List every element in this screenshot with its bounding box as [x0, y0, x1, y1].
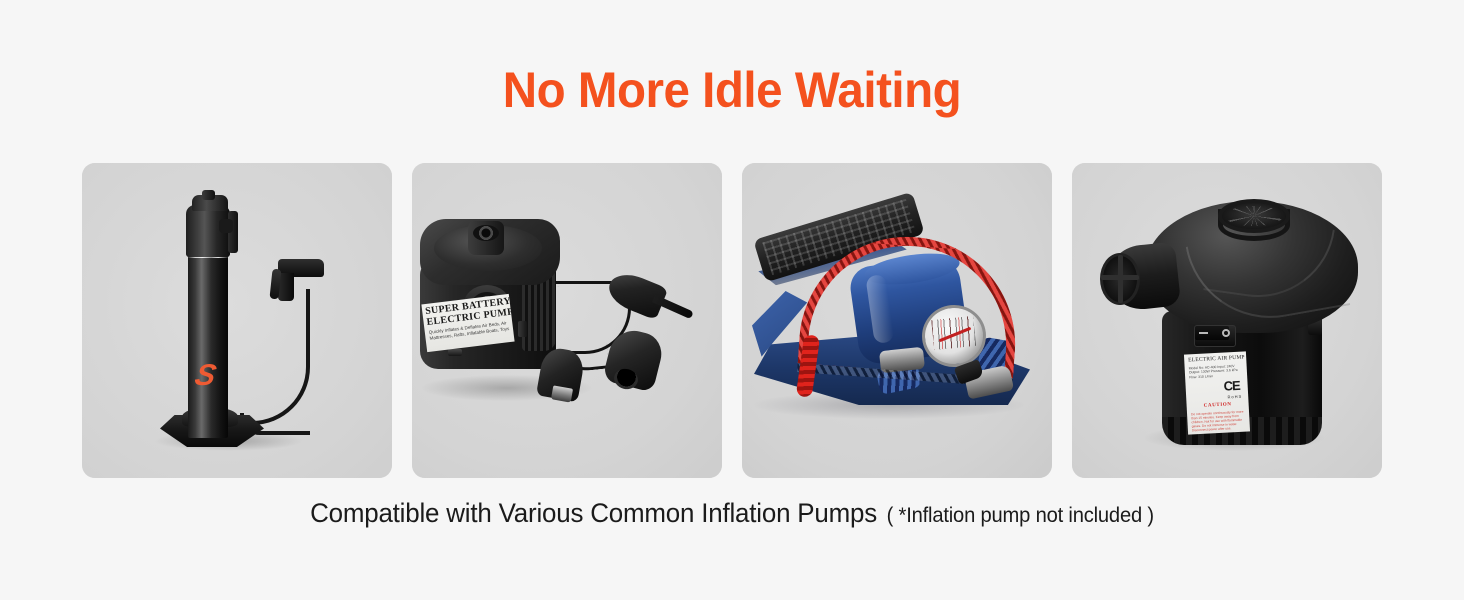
- gallery-caption: Compatible with Various Common Inflation…: [29, 496, 1434, 533]
- battery-latch[interactable]: [448, 349, 462, 356]
- product-gallery: S SUPER BATTERY ELECTRIC: [82, 163, 1382, 478]
- label-title: ELECTRIC AIR PUMP: [1188, 355, 1245, 364]
- intake-grill: [1218, 199, 1290, 233]
- page-title: No More Idle Waiting: [37, 60, 1428, 120]
- product-label: ELECTRIC AIR PUMP Model No: AC-400 Input…: [1184, 351, 1250, 434]
- product-panel-electric-air-pump[interactable]: ELECTRIC AIR PUMP Model No: AC-400 Input…: [1072, 163, 1382, 478]
- caption-main: Compatible with Various Common Inflation…: [310, 498, 877, 528]
- battery-electric-pump-image: SUPER BATTERY ELECTRIC PUMP Quickly Infl…: [412, 163, 722, 478]
- power-switch[interactable]: [1194, 325, 1236, 347]
- caution-title: CAUTION: [1191, 402, 1245, 410]
- promo-page: No More Idle Waiting S: [0, 0, 1464, 600]
- hand-pump-image: S: [82, 163, 392, 478]
- power-switch-rocker[interactable]: [1195, 326, 1229, 340]
- pump-cap-nub: [202, 190, 215, 200]
- compliance-marks: RoHS: [1227, 394, 1242, 400]
- hose-collar: [219, 219, 233, 233]
- product-panel-battery-electric-pump[interactable]: SUPER BATTERY ELECTRIC PUMP Quickly Infl…: [412, 163, 722, 478]
- caption-note: ( *Inflation pump not included ): [887, 504, 1154, 527]
- foot-pump-image: [742, 163, 1052, 478]
- product-panel-hand-pump[interactable]: S: [82, 163, 392, 478]
- battery-switch[interactable]: [518, 321, 527, 337]
- spout-cross-horizontal: [1101, 275, 1139, 280]
- pump-barrel: [188, 253, 228, 438]
- pump-top-port: [468, 221, 504, 255]
- caution-body: Do not operate continuously for more tha…: [1191, 410, 1246, 433]
- electric-air-pump-image: ELECTRIC AIR PUMP Model No: AC-400 Input…: [1072, 163, 1382, 478]
- product-panel-foot-pump[interactable]: [742, 163, 1052, 478]
- ce-mark: CE: [1223, 378, 1240, 394]
